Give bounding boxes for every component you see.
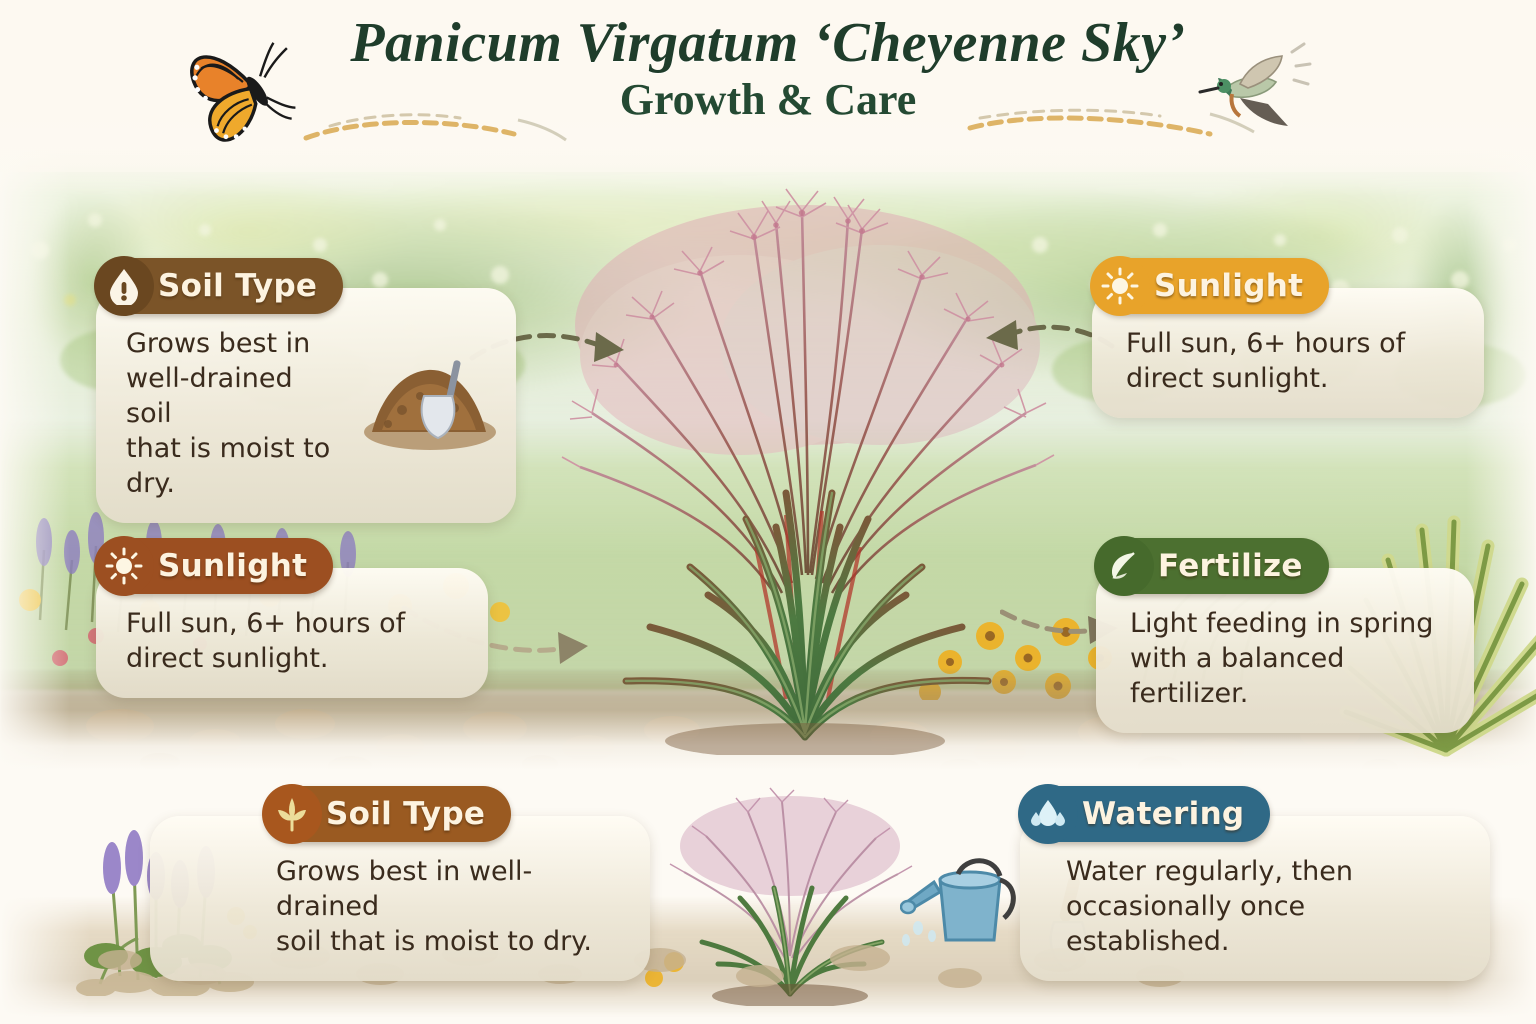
scene-left-fade [0, 150, 70, 770]
leaf-icon [262, 784, 322, 844]
card-soil-type-bottom[interactable]: Soil Type Grows best in well-drained soi… [150, 786, 650, 981]
card-title: Sunlight [1154, 268, 1303, 304]
sun-icon [1090, 256, 1150, 316]
leaf-icon [1094, 536, 1154, 596]
card-body-text: Grows best in well-drained soil that is … [126, 326, 346, 501]
infographic-canvas: Soil Type Grows best in well-drained soi… [0, 0, 1536, 1024]
switchgrass-clump [540, 175, 1070, 755]
water-drops-icon [1018, 784, 1078, 844]
dashed-flourish-left [300, 112, 580, 152]
water-drop-exclamation-icon [94, 256, 154, 316]
card-header-pill: Sunlight [1092, 258, 1329, 314]
card-title: Watering [1082, 796, 1244, 832]
header: Panicum Virgatum ‘Cheyenne Sky’ Growth &… [0, 0, 1536, 172]
card-header-pill: Sunlight [96, 538, 333, 594]
card-header-pill: Watering [1020, 786, 1270, 842]
card-header-pill: Soil Type [264, 786, 511, 842]
card-watering[interactable]: Watering Water regularly, then occasiona… [1020, 786, 1490, 981]
card-fertilize[interactable]: Fertilize Light feeding in spring with a… [1096, 538, 1474, 733]
card-title: Fertilize [1158, 548, 1303, 584]
card-title: Sunlight [158, 548, 307, 584]
card-header-pill: Soil Type [96, 258, 343, 314]
card-title: Soil Type [326, 796, 485, 832]
card-body-text: Full sun, 6+ hours of direct sunlight. [126, 606, 458, 676]
card-header-pill: Fertilize [1096, 538, 1329, 594]
card-sunlight-mid[interactable]: Sunlight Full sun, 6+ hours of direct su… [96, 538, 488, 698]
card-title: Soil Type [158, 268, 317, 304]
card-body-text: Light feeding in spring with a balanced … [1130, 606, 1444, 711]
trowel-in-soil-mound [358, 336, 508, 454]
card-sunlight-top[interactable]: Sunlight Full sun, 6+ hours of direct su… [1092, 258, 1484, 418]
sun-icon [94, 536, 154, 596]
dashed-flourish-right [960, 108, 1260, 148]
card-body-text: Grows best in well-drained soil that is … [276, 854, 630, 959]
card-body-text: Full sun, 6+ hours of direct sunlight. [1126, 326, 1454, 396]
card-body-text: Water regularly, then occasionally once … [1066, 854, 1460, 959]
